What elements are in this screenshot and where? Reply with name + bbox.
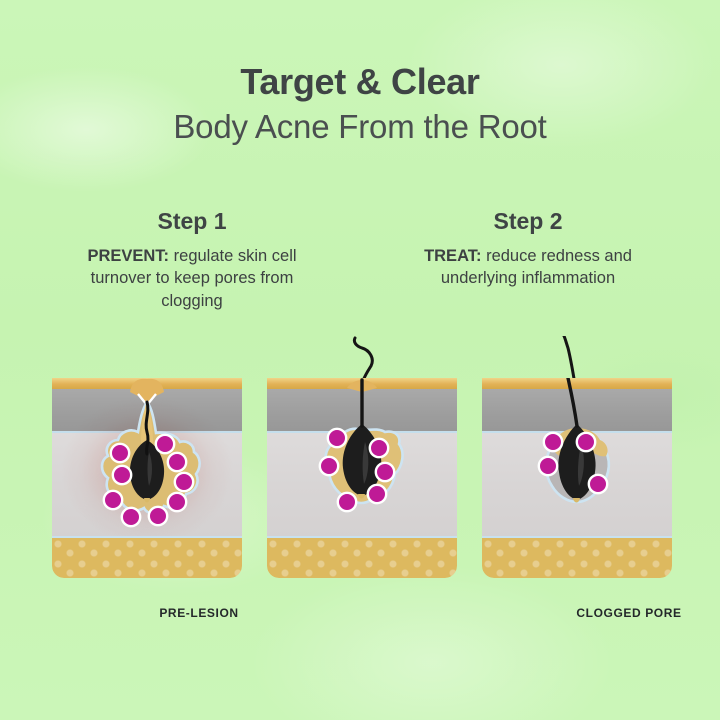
diagram-panels: PRE-LESION [0, 360, 720, 610]
step-2-heading: Step 2 [396, 208, 660, 235]
inflammatory-cell [111, 444, 129, 462]
step-2-emphasis: TREAT: [424, 247, 481, 265]
step-2-description: TREAT: reduce redness and underlying inf… [396, 245, 660, 290]
step-1-description: PREVENT: regulate skin cell turnover to … [60, 245, 324, 312]
step-1-heading: Step 1 [60, 208, 324, 235]
follicle-illustration-2 [267, 378, 457, 578]
inflammatory-cell [338, 493, 356, 511]
page-subtitle: Body Acne From the Root [0, 108, 720, 146]
inflammatory-cell [168, 493, 186, 511]
step-2-column: Step 2 TREAT: reduce redness and underly… [360, 208, 720, 312]
step-1-column: Step 1 PREVENT: regulate skin cell turno… [0, 208, 360, 312]
caption-clogged-pore: CLOGGED PORE [534, 606, 720, 620]
hair-shaft-internal [146, 402, 148, 454]
inflammatory-cell [368, 485, 386, 503]
steps-row: Step 1 PREVENT: regulate skin cell turno… [0, 208, 720, 312]
inflammatory-cell [320, 457, 338, 475]
page-title: Target & Clear [0, 62, 720, 102]
title-block: Target & Clear Body Acne From the Root [0, 62, 720, 146]
panel-pre-lesion: PRE-LESION [52, 378, 242, 578]
skin-cross-section-3 [482, 378, 672, 578]
inflammatory-cell [122, 508, 140, 526]
follicle-illustration-3 [482, 378, 672, 578]
infographic-stage: Target & Clear Body Acne From the Root S… [0, 0, 720, 720]
panel-acne-lesion: ACNE LESION [482, 378, 672, 578]
skin-cross-section-2 [267, 378, 457, 578]
hair-shaft-internal [568, 378, 577, 426]
inflammatory-cell [589, 475, 607, 493]
step-1-emphasis: PREVENT: [87, 247, 169, 265]
caption-pre-lesion: PRE-LESION [104, 606, 294, 620]
inflammatory-cell [104, 491, 122, 509]
inflammatory-cell [175, 473, 193, 491]
inflammatory-cell [328, 429, 346, 447]
inflammatory-cell [376, 463, 394, 481]
inflammatory-cell [113, 466, 131, 484]
inflammatory-cell [168, 453, 186, 471]
inflammatory-cell [149, 507, 167, 525]
inflammatory-cell [544, 433, 562, 451]
inflammatory-cell [577, 433, 595, 451]
inflammatory-cell [539, 457, 557, 475]
skin-cross-section-1 [52, 378, 242, 578]
inflammatory-cell [156, 435, 174, 453]
follicle-illustration-1 [52, 378, 242, 578]
panel-clogged-pore: CLOGGED PORE [267, 378, 457, 578]
inflammatory-cell [370, 439, 388, 457]
